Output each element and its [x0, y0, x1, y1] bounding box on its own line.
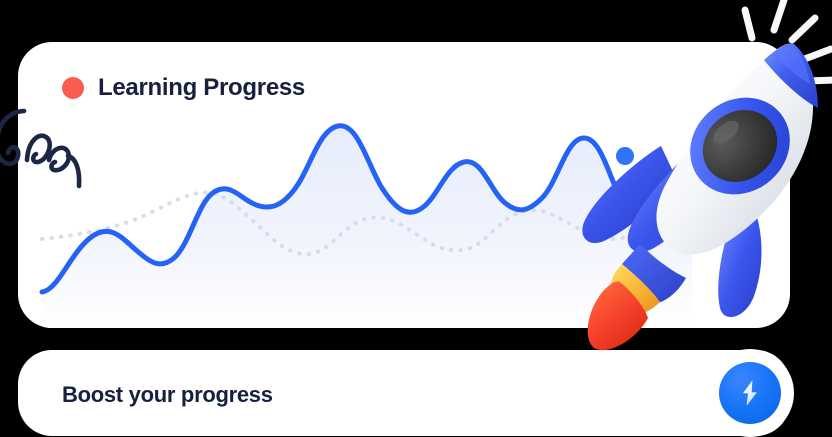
boost-progress-card: Boost your progress: [18, 350, 790, 436]
app-stage: Learning Progress Boost your progress: [0, 0, 832, 436]
action-button-halo: [706, 349, 794, 437]
boost-action-button[interactable]: [719, 362, 781, 424]
learning-progress-card: Learning Progress: [18, 42, 790, 328]
boost-card-title: Boost your progress: [62, 382, 273, 408]
status-dot-icon: [62, 77, 84, 99]
lightning-bolt-icon: [735, 378, 765, 408]
page-title: Learning Progress: [98, 74, 305, 102]
end-point-marker[interactable]: [616, 147, 634, 165]
card-header: Learning Progress: [62, 74, 305, 102]
